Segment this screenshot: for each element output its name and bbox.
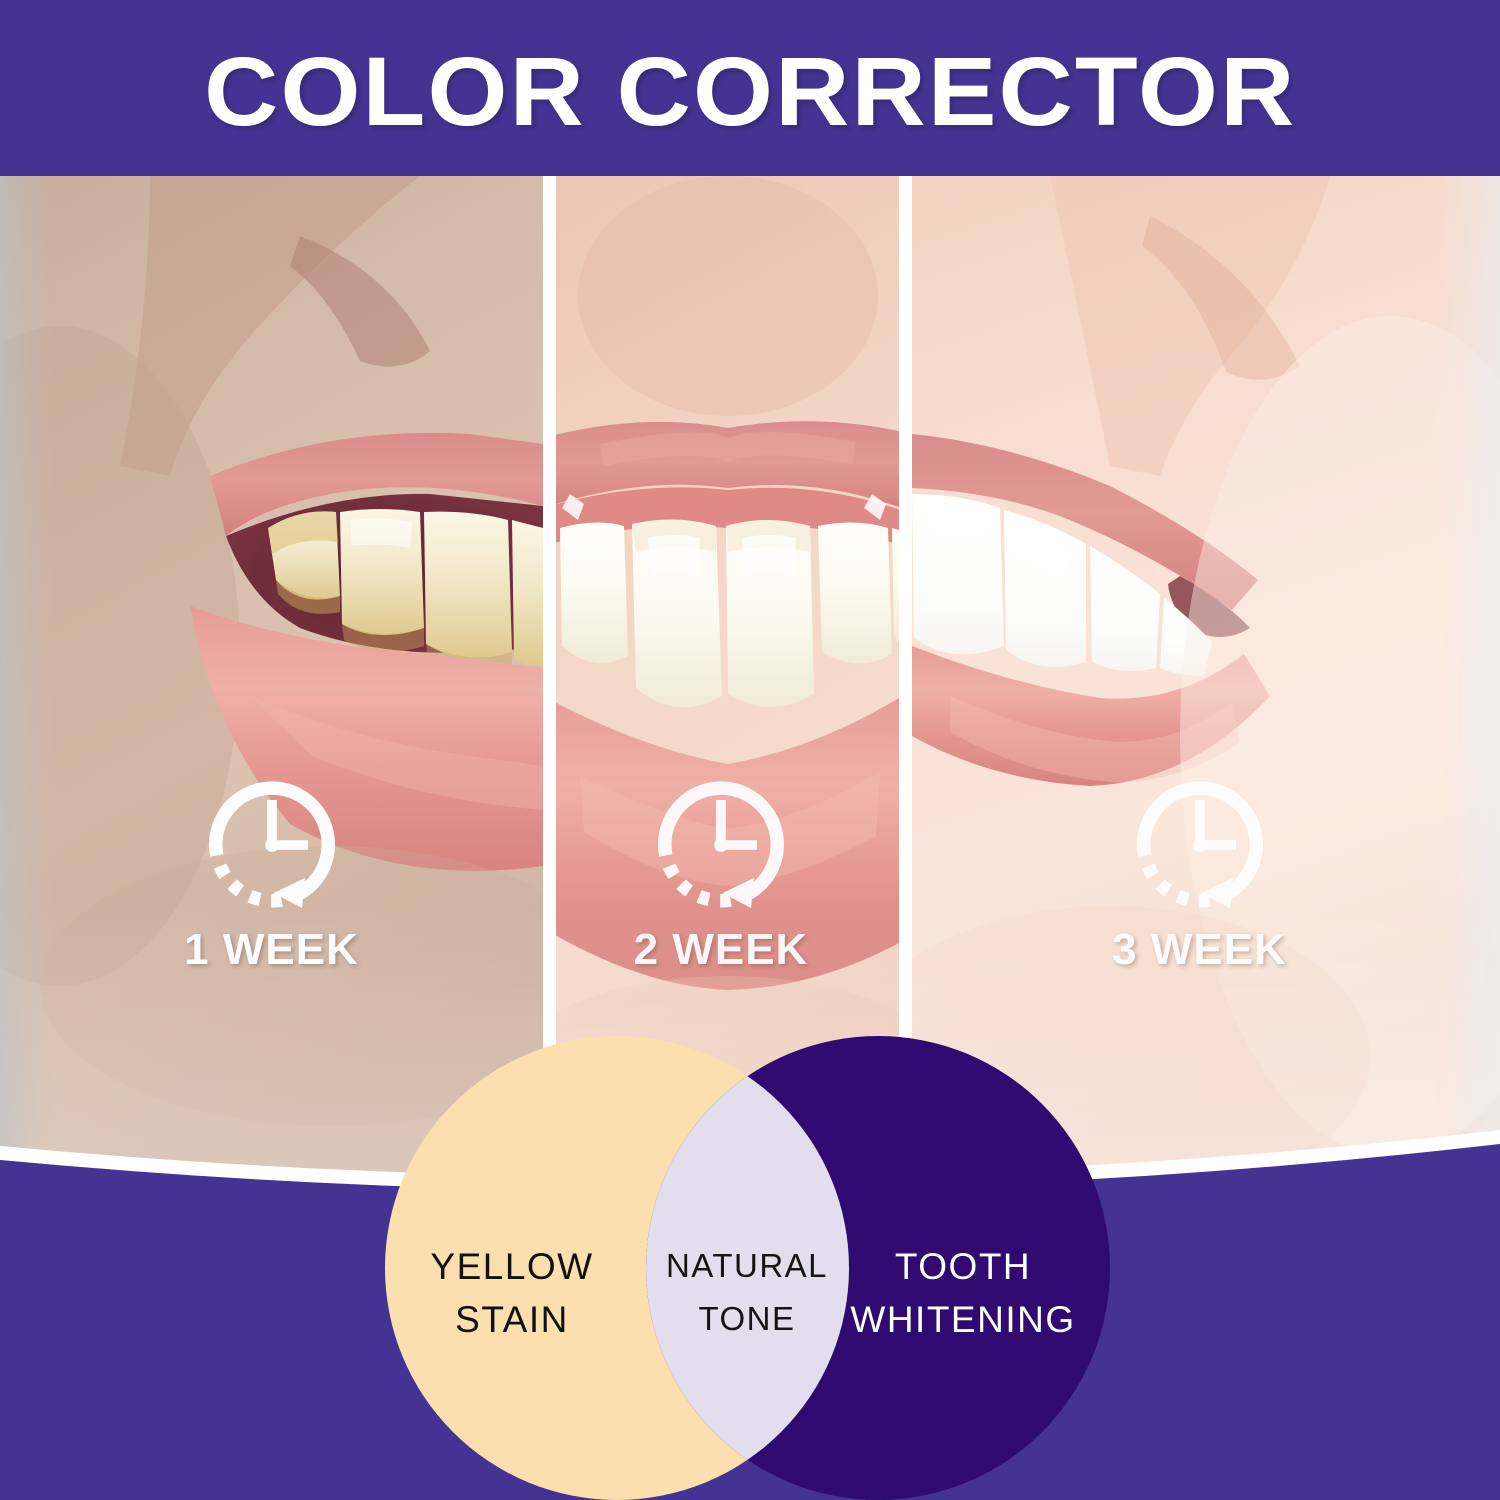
timeline-item-2-week: 2 WEEK — [543, 770, 899, 1000]
venn-label-natural-tone-line2: TONE — [698, 1300, 795, 1337]
venn-shape: YELLOW STAIN NATURAL TONE TOOTH WHITENIN… — [385, 1036, 1110, 1500]
timeline-label: 1 WEEK — [184, 928, 359, 972]
header-bar: COLOR CORRECTOR — [0, 0, 1500, 176]
smile-comparison-photo — [0, 176, 1500, 1186]
page-title: COLOR CORRECTOR — [204, 37, 1296, 140]
venn-label-yellow-stain-line1: YELLOW — [430, 1246, 593, 1287]
panel-divider-2 — [899, 176, 912, 1186]
venn-diagram: YELLOW STAIN NATURAL TONE TOOTH WHITENIN… — [385, 1036, 1110, 1500]
timeline-label: 2 WEEK — [634, 928, 809, 972]
venn-label-tooth-whitening-line2: WHITENING — [850, 1299, 1075, 1340]
clock-arrow-icon — [646, 770, 796, 920]
clock-arrow-icon — [197, 770, 347, 920]
timeline-item-3-week: 3 WEEK — [899, 770, 1500, 1000]
clock-arrow-icon — [1125, 770, 1275, 920]
venn-label-natural-tone-line1: NATURAL — [666, 1247, 828, 1284]
smile-photo-illustration — [0, 176, 1500, 1186]
venn-label-tooth-whitening-line1: TOOTH — [895, 1246, 1031, 1287]
product-infographic: COLOR CORRECTOR 1 WEEK — [0, 0, 1500, 1500]
timeline-label: 3 WEEK — [1112, 928, 1287, 972]
panel-divider-1 — [543, 176, 556, 1186]
timeline-row: 1 WEEK 2 WEEK 3 WEEK — [0, 770, 1500, 1000]
timeline-item-1-week: 1 WEEK — [0, 770, 543, 1000]
venn-label-yellow-stain-line2: STAIN — [455, 1299, 569, 1340]
